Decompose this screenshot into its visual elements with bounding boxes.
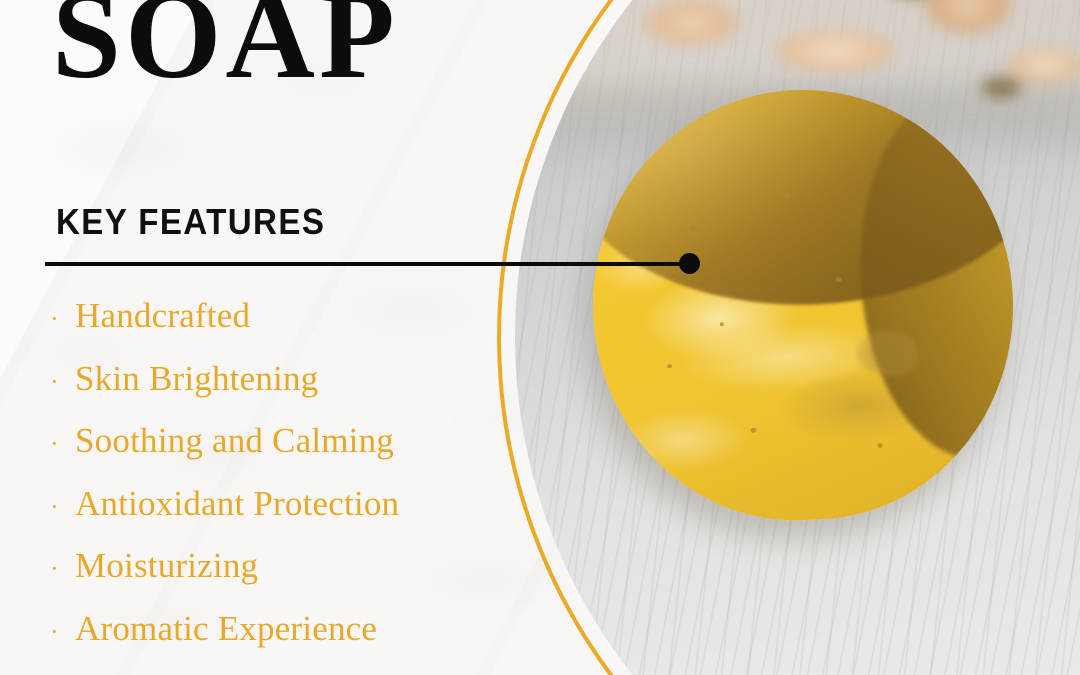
product-photo-panel (515, 0, 1080, 675)
list-item: · Handcrafted (45, 296, 515, 359)
feature-label: Handcrafted (75, 296, 250, 336)
page-title: SOAP (52, 0, 399, 98)
poster-canvas: SOAP KEY FEATURES · Handcrafted · Skin B… (0, 0, 1080, 675)
bullet-icon: · (45, 369, 75, 395)
list-item: · Soothing and Calming (45, 421, 515, 484)
list-item: · Antioxidant Protection (45, 484, 515, 547)
section-subtitle: KEY FEATURES (56, 204, 325, 240)
soap-speck (720, 322, 724, 326)
bullet-icon: · (45, 556, 75, 582)
rule-endpoint-dot (679, 253, 700, 274)
key-features-list: · Handcrafted · Skin Brightening · Sooth… (45, 296, 515, 671)
feature-label: Soothing and Calming (75, 421, 394, 461)
list-item: · Skin Brightening (45, 359, 515, 422)
bullet-icon: · (45, 619, 75, 645)
list-item: · Moisturizing (45, 546, 515, 609)
bullet-icon: · (45, 431, 75, 457)
photo-fabric-backdrop (515, 0, 1080, 675)
soap-speck (689, 224, 696, 231)
feature-label: Aromatic Experience (75, 609, 377, 649)
soap-bar-image (582, 79, 1024, 530)
feature-label: Antioxidant Protection (75, 484, 399, 524)
bullet-icon: · (45, 306, 75, 332)
feature-label: Moisturizing (75, 546, 258, 586)
feature-label: Skin Brightening (75, 359, 318, 399)
bullet-icon: · (45, 494, 75, 520)
rule-line (45, 262, 696, 266)
list-item: · Aromatic Experience (45, 609, 515, 672)
connector-rule (45, 259, 700, 269)
